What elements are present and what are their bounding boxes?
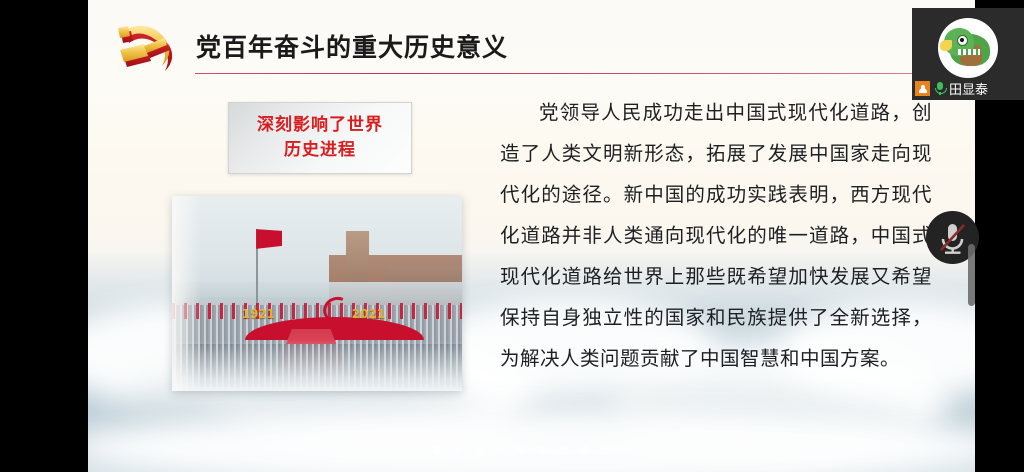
page-dot-1[interactable] xyxy=(433,446,441,454)
person-badge-icon xyxy=(915,81,930,96)
page-dot-7[interactable] xyxy=(559,446,567,454)
photo-year-1921: 1921 xyxy=(242,307,275,321)
meeting-screen-share-view: 党百年奋斗的重大历史意义 深刻影响了世界 历史进程 1921 2021 xyxy=(0,0,1024,472)
mic-on-icon xyxy=(933,81,946,96)
slide-body-text: 党领导人民成功走出中国式现代化道路，创造了人类文明新形态，拓展了发展中国家走向现… xyxy=(500,92,932,379)
page-dot-8[interactable] xyxy=(580,446,588,454)
presentation-slide: 党百年奋斗的重大历史意义 深刻影响了世界 历史进程 1921 2021 xyxy=(88,0,975,472)
page-dot-10[interactable] xyxy=(622,446,630,454)
slide-header: 党百年奋斗的重大历史意义 xyxy=(88,0,975,90)
photo-bottom-fade xyxy=(172,340,462,391)
participant-name: 田显泰 xyxy=(949,79,988,98)
page-title: 党百年奋斗的重大历史意义 xyxy=(196,28,508,64)
slide-pagination[interactable] xyxy=(88,446,975,454)
cloud-shape xyxy=(88,408,975,472)
page-dot-9[interactable] xyxy=(601,446,609,454)
title-divider xyxy=(195,73,975,74)
participant-video-tile[interactable]: 田显泰 xyxy=(912,8,1024,100)
page-dot-4[interactable] xyxy=(496,446,504,454)
page-dot-6[interactable] xyxy=(538,446,546,454)
callout-line-1: 深刻影响了世界 xyxy=(257,113,383,138)
callout-line-2: 历史进程 xyxy=(284,138,356,163)
page-dot-5[interactable] xyxy=(517,446,525,454)
ceremony-photo: 1921 2021 xyxy=(172,196,462,391)
page-dot-2[interactable] xyxy=(454,446,462,454)
cpc-hammer-sickle-emblem-icon xyxy=(104,14,182,80)
callout-box: 深刻影响了世界 历史进程 xyxy=(228,102,412,174)
dinosaur-avatar-icon xyxy=(938,18,998,78)
photo-left-fade xyxy=(172,196,201,391)
photo-year-2021: 2021 xyxy=(352,307,385,321)
participant-name-row: 田显泰 xyxy=(912,79,988,98)
page-dot-3[interactable] xyxy=(475,446,483,454)
drag-handle[interactable] xyxy=(968,244,975,306)
